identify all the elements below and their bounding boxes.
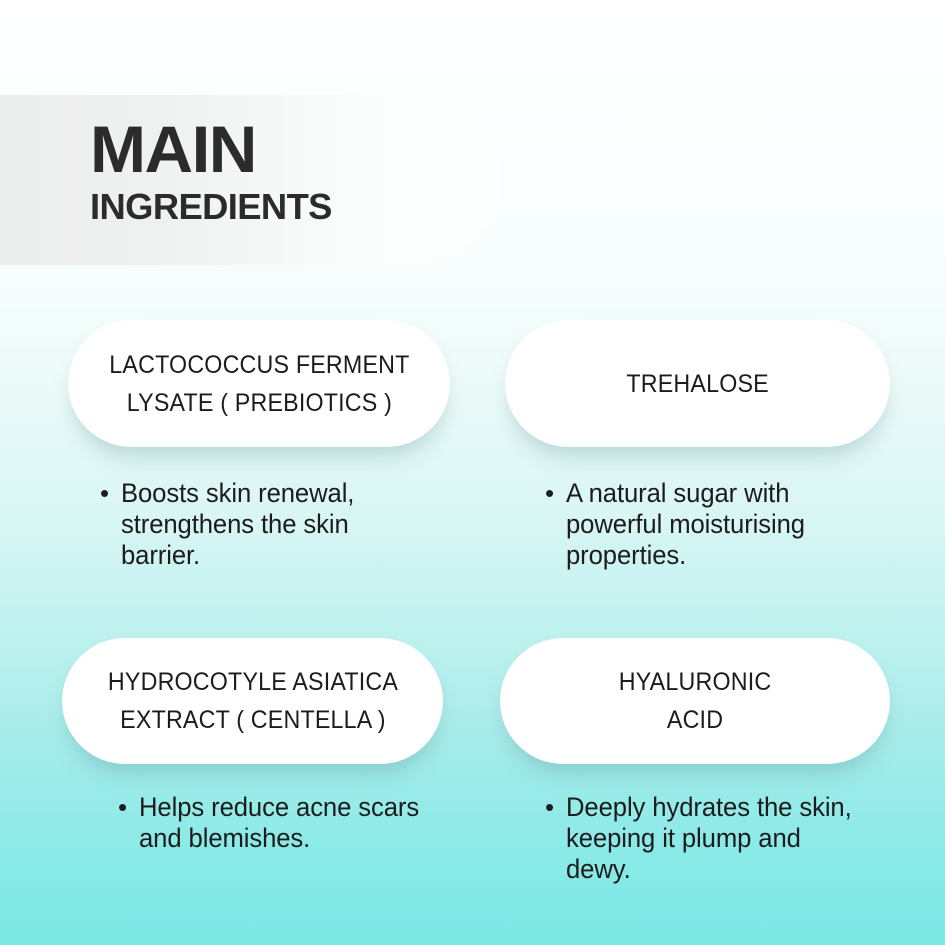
ingredients-grid: LACTOCOCCUS FERMENT LYSATE ( PREBIOTICS … [0, 300, 945, 910]
ingredient-pill-1[interactable]: TREHALOSE [505, 320, 890, 447]
ingredient-description-0: Boosts skin renewal, strengthens the ski… [121, 478, 414, 571]
ingredient-pill-3[interactable]: HYALURONIC ACID [500, 638, 890, 764]
ingredient-description-2: Helps reduce acne scars and blemishes. [139, 792, 432, 854]
title-sub-line: INGREDIENTS [90, 186, 514, 228]
page-title: MAIN INGREDIENTS [90, 118, 510, 228]
ingredients-poster: MAIN INGREDIENTS LACTOCOCCUS FERMENT LYS… [0, 0, 945, 945]
ingredient-description-block-2: • Helps reduce acne scars and blemishes. [118, 792, 448, 854]
ingredient-description-3: Deeply hydrates the skin, keeping it plu… [566, 792, 859, 885]
ingredient-name-2: HYDROCOTYLE ASIATICA EXTRACT ( CENTELLA … [107, 663, 397, 739]
bullet-dot-icon: • [545, 792, 554, 823]
ingredient-name-3: HYALURONIC ACID [619, 663, 772, 739]
ingredient-pill-2[interactable]: HYDROCOTYLE ASIATICA EXTRACT ( CENTELLA … [62, 638, 443, 764]
bullet-dot-icon: • [118, 792, 127, 823]
ingredient-description-1: A natural sugar with powerful moisturisi… [566, 478, 859, 571]
ingredients-row-1: LACTOCOCCUS FERMENT LYSATE ( PREBIOTICS … [0, 300, 945, 610]
title-main-line: MAIN [90, 118, 518, 180]
ingredients-row-2: HYDROCOTYLE ASIATICA EXTRACT ( CENTELLA … [0, 610, 945, 910]
bullet-dot-icon: • [545, 478, 554, 509]
ingredient-description-block-1: • A natural sugar with powerful moisturi… [545, 478, 875, 571]
ingredient-description-block-3: • Deeply hydrates the skin, keeping it p… [545, 792, 875, 885]
ingredient-name-1: TREHALOSE [626, 365, 769, 403]
ingredient-pill-0[interactable]: LACTOCOCCUS FERMENT LYSATE ( PREBIOTICS … [68, 320, 450, 447]
ingredient-description-block-0: • Boosts skin renewal, strengthens the s… [100, 478, 430, 571]
ingredient-name-0: LACTOCOCCUS FERMENT LYSATE ( PREBIOTICS … [109, 346, 409, 422]
bullet-dot-icon: • [100, 478, 109, 509]
